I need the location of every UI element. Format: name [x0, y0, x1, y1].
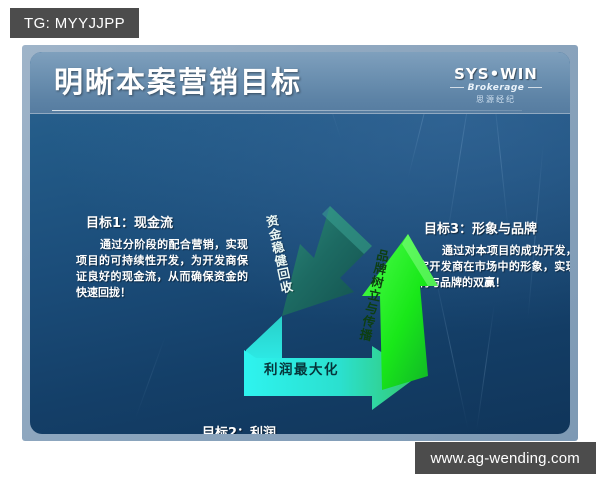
watermark-top-left: TG: MYYJJPP — [10, 8, 139, 38]
goal-3-heading: 目标3：形象与品牌 — [424, 218, 570, 237]
logo-tagline: Brokerage — [440, 82, 552, 94]
watermark-bottom-right: www.ag-wending.com — [415, 442, 597, 474]
screenshot-stage: 明晰本案营销目标 SYS•WIN Brokerage 思源经纪 目标1：现金流 … — [0, 0, 600, 480]
brand-logo: SYS•WIN Brokerage 思源经纪 — [440, 66, 552, 105]
slide-title-band: 明晰本案营销目标 SYS•WIN Brokerage 思源经纪 — [30, 52, 570, 114]
page-title: 明晰本案营销目标 — [54, 60, 302, 104]
goal-block-2: 目标2：利润 在依托区域发展的基础上，充分发挥项目自身和潜在的价值，实现项目利润… — [190, 422, 482, 434]
goal-3-body: 通过对本项目的成功开发，奠定开发商在市场中的形象，实现利润与品牌的双赢！ — [418, 243, 570, 291]
title-divider — [52, 110, 522, 111]
presentation-slide: 明晰本案营销目标 SYS•WIN Brokerage 思源经纪 目标1：现金流 … — [30, 52, 570, 434]
recycle-cycle-diagram: 资金稳健回收 品牌树立与传播 利润最大化 — [222, 200, 440, 410]
arrow-top-left-shape — [282, 206, 372, 316]
logo-chinese-name: 思源经纪 — [440, 94, 552, 105]
goal-block-3: 目标3：形象与品牌 通过对本项目的成功开发，奠定开发商在市场中的形象，实现利润与… — [418, 218, 570, 291]
goal-2-heading: 目标2：利润 — [202, 422, 482, 434]
arrow-bottom-label: 利润最大化 — [264, 358, 339, 378]
logo-wordmark: SYS•WIN — [440, 66, 552, 82]
